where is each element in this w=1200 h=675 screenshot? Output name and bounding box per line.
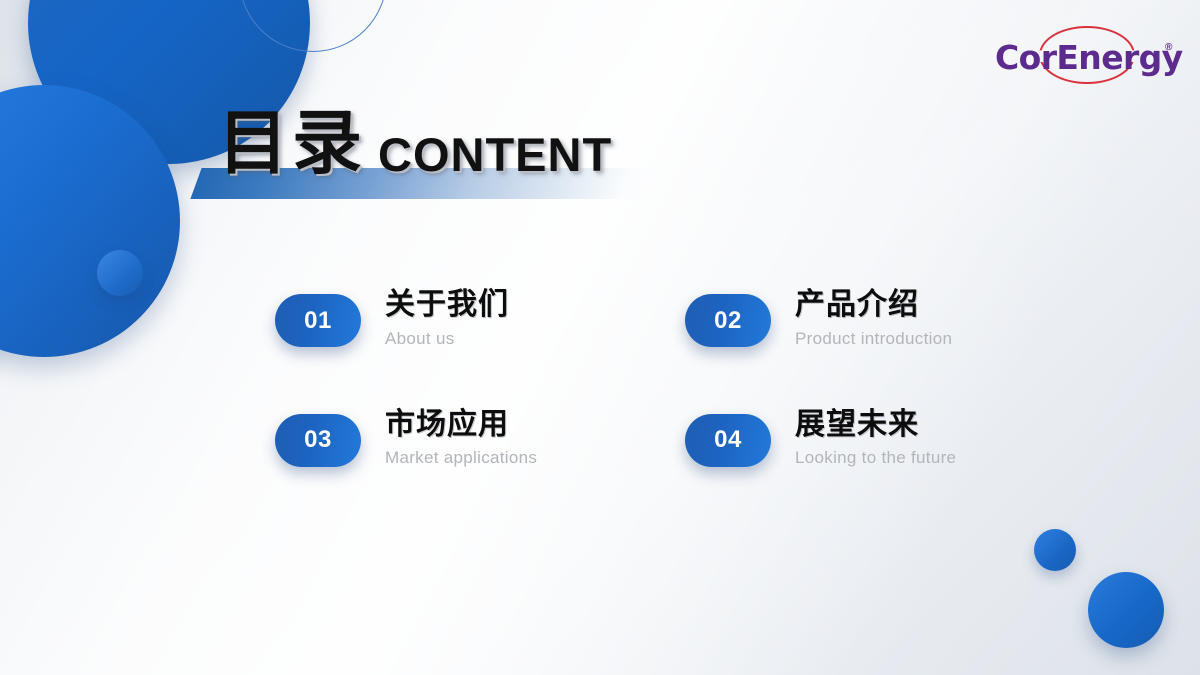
page-title: 目录CONTENT [196, 108, 666, 208]
content-item-labels: 市场应用 Market applications [385, 408, 537, 469]
bottom-right-small-circle-decoration [1034, 529, 1076, 571]
content-item-title-en: Product introduction [795, 329, 952, 349]
content-item-03[interactable]: 03 市场应用 Market applications [275, 408, 685, 469]
title-text-group: 目录CONTENT [218, 108, 612, 178]
content-list: 01 关于我们 About us 02 产品介绍 Product introdu… [275, 288, 1035, 468]
left-small-circle-decoration [97, 250, 143, 296]
content-number-badge[interactable]: 03 [275, 414, 361, 467]
content-item-labels: 产品介绍 Product introduction [795, 288, 952, 349]
presentation-slide: CorEnergy ® 目录CONTENT 01 关于我们 About us 0… [0, 0, 1200, 675]
brand-logo: CorEnergy ® [995, 28, 1180, 82]
content-item-title-en: About us [385, 329, 509, 349]
title-english: CONTENT [378, 128, 612, 181]
content-item-02[interactable]: 02 产品介绍 Product introduction [685, 288, 1035, 349]
title-chinese: 目录 [218, 102, 366, 184]
content-item-title-en: Market applications [385, 448, 537, 468]
content-number-badge[interactable]: 01 [275, 294, 361, 347]
content-number-badge[interactable]: 04 [685, 414, 771, 467]
content-row-2: 03 市场应用 Market applications 04 展望未来 Look… [275, 408, 1035, 469]
content-item-title-cn: 关于我们 [385, 288, 509, 322]
content-row-1: 01 关于我们 About us 02 产品介绍 Product introdu… [275, 288, 1035, 349]
content-number-badge[interactable]: 02 [685, 294, 771, 347]
content-item-title-cn: 产品介绍 [795, 288, 952, 322]
logo-wordmark: CorEnergy [995, 38, 1183, 77]
content-item-04[interactable]: 04 展望未来 Looking to the future [685, 408, 1035, 469]
content-item-title-en: Looking to the future [795, 448, 956, 468]
registered-trademark-icon: ® [1165, 42, 1172, 53]
content-item-01[interactable]: 01 关于我们 About us [275, 288, 685, 349]
content-item-labels: 关于我们 About us [385, 288, 509, 349]
content-item-title-cn: 市场应用 [385, 408, 537, 442]
content-item-title-cn: 展望未来 [795, 408, 956, 442]
content-item-labels: 展望未来 Looking to the future [795, 408, 956, 469]
bottom-right-large-circle-decoration [1088, 572, 1164, 648]
